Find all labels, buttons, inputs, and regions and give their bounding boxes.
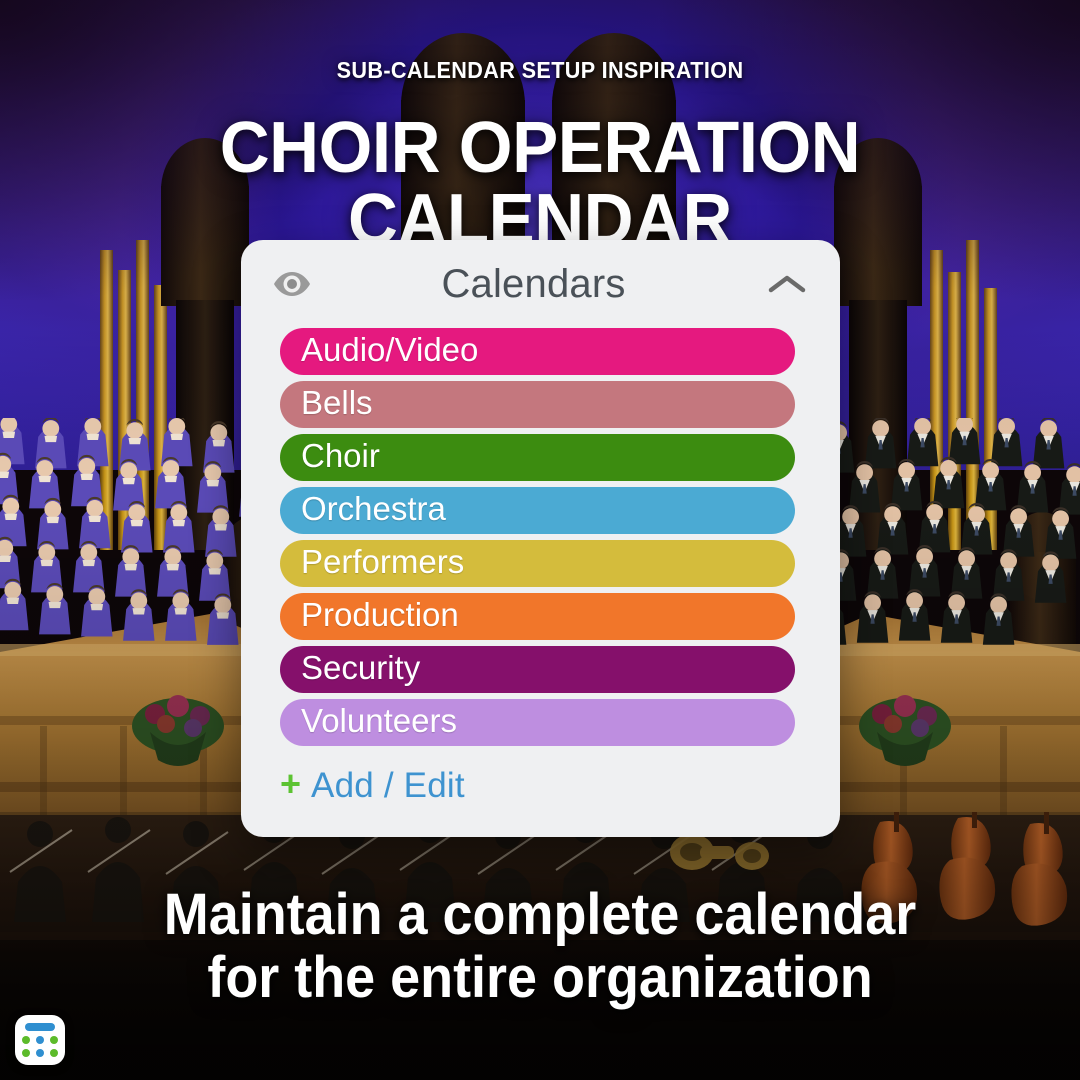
calendar-item-label: Security xyxy=(301,651,420,684)
calendar-item-label: Performers xyxy=(301,545,464,578)
chevron-up-icon[interactable] xyxy=(764,261,810,307)
calendar-item[interactable]: Choir xyxy=(280,434,795,481)
logo-dot-green xyxy=(50,1036,58,1044)
logo-dot-row-1 xyxy=(22,1036,58,1044)
logo-dot-green xyxy=(50,1049,58,1057)
calendar-item[interactable]: Audio/Video xyxy=(280,328,795,375)
teamup-logo-icon[interactable] xyxy=(15,1015,65,1065)
kicker-text: SUB-CALENDAR SETUP INSPIRATION xyxy=(32,57,1047,84)
calendar-item[interactable]: Bells xyxy=(280,381,795,428)
page-title: CHOIR OPERATION CALENDAR xyxy=(22,112,1059,256)
calendar-item-label: Volunteers xyxy=(301,704,457,737)
calendars-panel: Calendars Audio/VideoBellsChoirOrchestra… xyxy=(241,240,840,837)
calendar-item[interactable]: Volunteers xyxy=(280,699,795,746)
caption-line-2: for the entire organization xyxy=(38,947,1042,1010)
plus-icon: + xyxy=(280,766,301,802)
calendar-item-label: Choir xyxy=(301,439,380,472)
calendar-item[interactable]: Orchestra xyxy=(280,487,795,534)
panel-title: Calendars xyxy=(303,262,764,307)
logo-dot-row-2 xyxy=(22,1049,58,1057)
calendar-item-label: Production xyxy=(301,598,459,631)
logo-bar xyxy=(25,1023,55,1031)
logo-dot-green xyxy=(22,1049,30,1057)
caption-text: Maintain a complete calendar for the ent… xyxy=(38,884,1042,1009)
calendar-item[interactable]: Security xyxy=(280,646,795,693)
add-edit-label: Add / Edit xyxy=(311,766,465,806)
calendars-panel-header: Calendars xyxy=(241,240,840,328)
caption-line-1: Maintain a complete calendar xyxy=(38,884,1042,947)
calendar-list: Audio/VideoBellsChoirOrchestraPerformers… xyxy=(241,328,840,746)
slide-canvas: SUB-CALENDAR SETUP INSPIRATION CHOIR OPE… xyxy=(0,0,1080,1080)
calendar-item-label: Audio/Video xyxy=(301,333,478,366)
calendar-item-label: Orchestra xyxy=(301,492,446,525)
calendar-item[interactable]: Performers xyxy=(280,540,795,587)
add-edit-button[interactable]: + Add / Edit xyxy=(241,752,840,806)
calendar-item-label: Bells xyxy=(301,386,373,419)
logo-dot-blue xyxy=(36,1049,44,1057)
logo-dot-green xyxy=(22,1036,30,1044)
logo-dot-blue xyxy=(36,1036,44,1044)
calendar-item[interactable]: Production xyxy=(280,593,795,640)
